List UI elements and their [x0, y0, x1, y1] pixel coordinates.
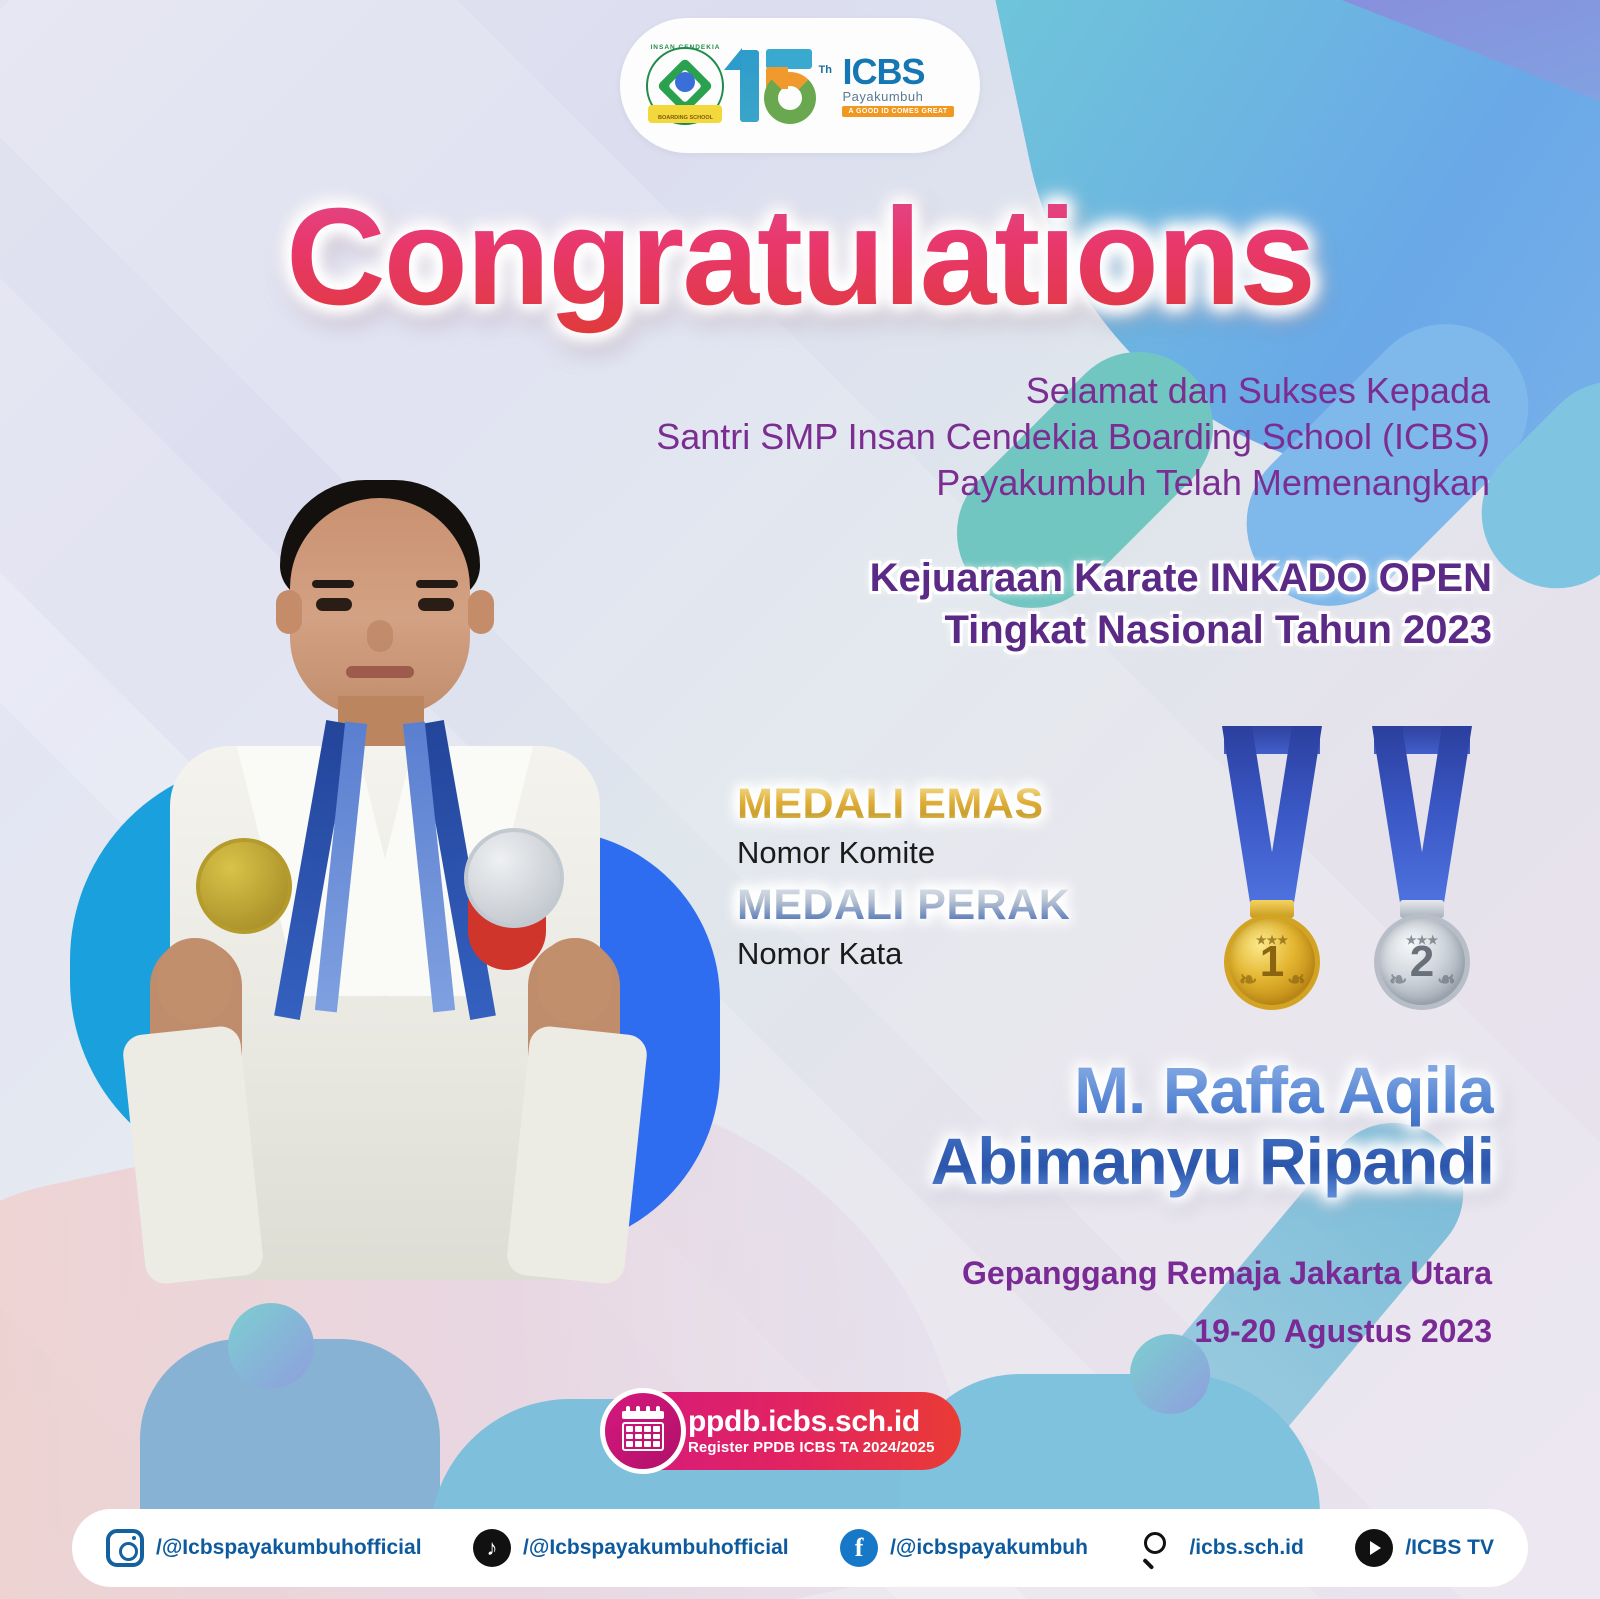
intro-line-3: Payakumbuh Telah Memenangkan: [656, 460, 1490, 506]
gradient-circle: [228, 1303, 314, 1389]
student-photo: [70, 470, 690, 1280]
laurel-icon: ❧: [1437, 967, 1455, 993]
held-silver-medal: [464, 828, 564, 928]
congratulations-poster: INSAN CENDEKIA BOARDING SCHOOL Th ICBS P…: [0, 0, 1600, 1599]
crest-top-text: INSAN CENDEKIA: [646, 44, 724, 51]
event-line-1: Kejuaraan Karate INKADO OPEN: [870, 552, 1492, 604]
social-item-tiktok[interactable]: ♪ /@Icbspayakumbuhofficial: [473, 1529, 789, 1567]
laurel-icon: ❧: [1389, 967, 1407, 993]
event-title: Kejuaraan Karate INKADO OPEN Tingkat Nas…: [870, 552, 1492, 656]
winner-name-line-2: Abimanyu Ripandi: [931, 1126, 1494, 1197]
venue-text: Gepanggang Remaja Jakarta Utara: [962, 1255, 1492, 1292]
medal-illustrations: ★★★ ❧ 1 ❧ ★★★ ❧ 2 ❧: [1212, 726, 1482, 1006]
laurel-icon: ❧: [1239, 967, 1257, 993]
silver-medal-category: Nomor Kata: [737, 936, 1070, 972]
tiktok-handle[interactable]: /@Icbspayakumbuhofficial: [523, 1536, 789, 1560]
logo-capsule: INSAN CENDEKIA BOARDING SCHOOL Th ICBS P…: [620, 18, 980, 153]
brand-tagline: A GOOD ID COMES GREAT: [842, 106, 953, 117]
anniversary-logo-icon: Th ICBS Payakumbuh A GOOD ID COMES GREAT: [734, 44, 953, 128]
calendar-icon: [600, 1388, 686, 1474]
crest-ribbon-text: BOARDING SCHOOL: [646, 115, 724, 121]
anniversary-suffix: Th: [818, 64, 831, 76]
intro-line-1: Selamat dan Sukses Kepada: [656, 368, 1490, 414]
silver-medal-icon: ★★★ ❧ 2 ❧: [1362, 726, 1482, 1001]
silver-medal-label: MEDALI PERAK: [737, 881, 1070, 930]
ppdb-badge[interactable]: ppdb.icbs.sch.id Register PPDB ICBS TA 2…: [604, 1392, 961, 1470]
intro-line-2: Santri SMP Insan Cendekia Boarding Schoo…: [656, 414, 1490, 460]
page-title: Congratulations: [0, 178, 1600, 337]
gold-medal-category: Nomor Komite: [737, 835, 1070, 871]
facebook-icon: f: [840, 1529, 878, 1567]
medal-stars-icon: ★★★: [1229, 933, 1315, 947]
social-item-youtube[interactable]: /ICBS TV: [1355, 1529, 1494, 1567]
gold-medal-icon: ★★★ ❧ 1 ❧: [1212, 726, 1332, 1001]
ppdb-url[interactable]: ppdb.icbs.sch.id: [688, 1406, 935, 1438]
instagram-icon: [106, 1529, 144, 1567]
brand-sub: Payakumbuh: [842, 90, 953, 103]
instagram-handle[interactable]: /@Icbspayakumbuhofficial: [156, 1536, 422, 1560]
ppdb-caption: Register PPDB ICBS TA 2024/2025: [688, 1439, 935, 1456]
brand-name: ICBS: [842, 54, 953, 90]
tiktok-icon: ♪: [473, 1529, 511, 1567]
website-url[interactable]: /icbs.sch.id: [1189, 1536, 1303, 1560]
medal-stars-icon: ★★★: [1379, 933, 1465, 947]
social-item-website[interactable]: /icbs.sch.id: [1139, 1529, 1303, 1567]
date-text: 19-20 Agustus 2023: [1194, 1313, 1492, 1350]
search-icon: [1139, 1529, 1177, 1567]
youtube-icon: [1355, 1529, 1393, 1567]
awards-list: MEDALI EMAS Nomor Komite MEDALI PERAK No…: [737, 780, 1070, 972]
youtube-channel[interactable]: /ICBS TV: [1405, 1536, 1494, 1560]
student-figure: [150, 470, 620, 1280]
winner-name: M. Raffa Aqila Abimanyu Ripandi: [931, 1055, 1494, 1198]
insan-cendekia-crest-icon: INSAN CENDEKIA BOARDING SCHOOL: [646, 47, 724, 125]
held-gold-medal: [196, 838, 292, 934]
event-line-2: Tingkat Nasional Tahun 2023: [870, 604, 1492, 656]
social-footer: /@Icbspayakumbuhofficial ♪ /@Icbspayakum…: [72, 1509, 1528, 1587]
intro-text: Selamat dan Sukses Kepada Santri SMP Ins…: [656, 368, 1490, 506]
facebook-handle[interactable]: /@icbspayakumbuh: [890, 1536, 1088, 1560]
gold-medal-label: MEDALI EMAS: [737, 780, 1070, 829]
social-item-facebook[interactable]: f /@icbspayakumbuh: [840, 1529, 1088, 1567]
social-item-instagram[interactable]: /@Icbspayakumbuhofficial: [106, 1529, 422, 1567]
winner-name-line-1: M. Raffa Aqila: [931, 1055, 1494, 1126]
laurel-icon: ❧: [1287, 967, 1305, 993]
